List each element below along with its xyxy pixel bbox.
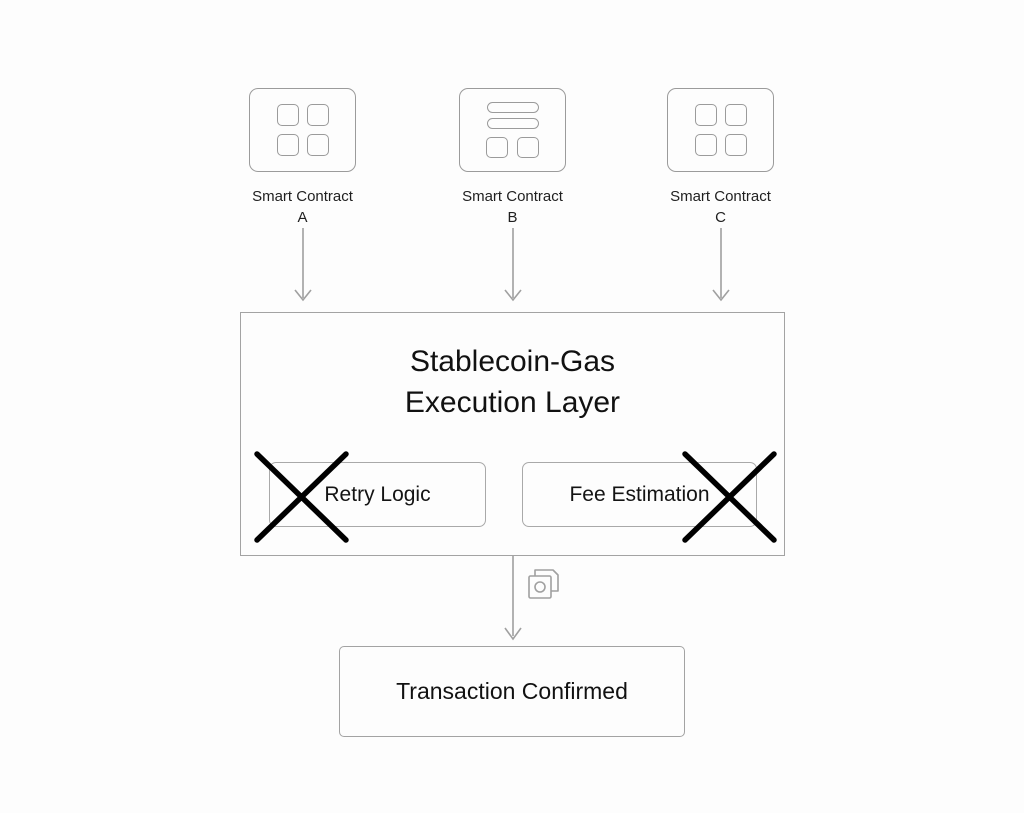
contract-label-b-sub: B — [507, 209, 517, 226]
contract-label-a-sub: A — [297, 209, 307, 226]
contract-card-b — [459, 88, 566, 172]
list-bottom-pair — [486, 137, 539, 158]
grid-cell — [695, 134, 717, 156]
execution-layer-title-line2: Execution Layer — [405, 386, 620, 419]
contract-label-a: Smart Contract A — [240, 186, 365, 228]
list-bar — [487, 118, 539, 129]
arrow-contract-b-to-layer — [493, 228, 533, 308]
module-fee-estimation[interactable]: Fee Estimation — [522, 462, 757, 527]
contract-card-c — [667, 88, 774, 172]
contract-label-c: Smart Contract C — [658, 186, 783, 228]
stacked-cards-icon — [523, 563, 565, 605]
grid-cell — [725, 104, 747, 126]
grid-four-squares-icon — [277, 104, 329, 156]
diagram-canvas: Smart Contract A Smart Contract B — [0, 0, 1024, 813]
module-fee-estimation-label: Fee Estimation — [569, 483, 709, 507]
contract-label-b: Smart Contract B — [450, 186, 575, 228]
arrow-contract-c-to-layer — [701, 228, 741, 308]
module-retry-logic-label: Retry Logic — [324, 483, 430, 507]
contract-node-c[interactable]: Smart Contract C — [658, 88, 783, 228]
grid-cell — [307, 104, 329, 126]
list-rows-icon — [486, 102, 539, 158]
contract-label-c-text: Smart Contract — [670, 188, 771, 205]
contract-node-a[interactable]: Smart Contract A — [240, 88, 365, 228]
grid-cell — [277, 134, 299, 156]
grid-cell — [277, 104, 299, 126]
grid-cell — [517, 137, 539, 158]
contract-node-b[interactable]: Smart Contract B — [450, 88, 575, 228]
list-bar — [487, 102, 539, 113]
contract-label-b-text: Smart Contract — [462, 188, 563, 205]
grid-cell — [695, 104, 717, 126]
contract-label-a-text: Smart Contract — [252, 188, 353, 205]
grid-cell — [486, 137, 508, 158]
grid-cell — [725, 134, 747, 156]
arrow-contract-a-to-layer — [283, 228, 323, 308]
execution-layer-title-line1: Stablecoin-Gas — [410, 345, 615, 378]
execution-layer-title: Stablecoin-Gas Execution Layer — [241, 341, 784, 423]
contract-label-c-sub: C — [715, 209, 726, 226]
grid-cell — [307, 134, 329, 156]
grid-four-squares-icon — [695, 104, 747, 156]
contract-card-a — [249, 88, 356, 172]
execution-layer-box[interactable]: Stablecoin-Gas Execution Layer Retry Log… — [240, 312, 785, 556]
result-transaction-confirmed[interactable]: Transaction Confirmed — [339, 646, 685, 737]
result-label: Transaction Confirmed — [396, 678, 628, 705]
module-retry-logic[interactable]: Retry Logic — [269, 462, 486, 527]
